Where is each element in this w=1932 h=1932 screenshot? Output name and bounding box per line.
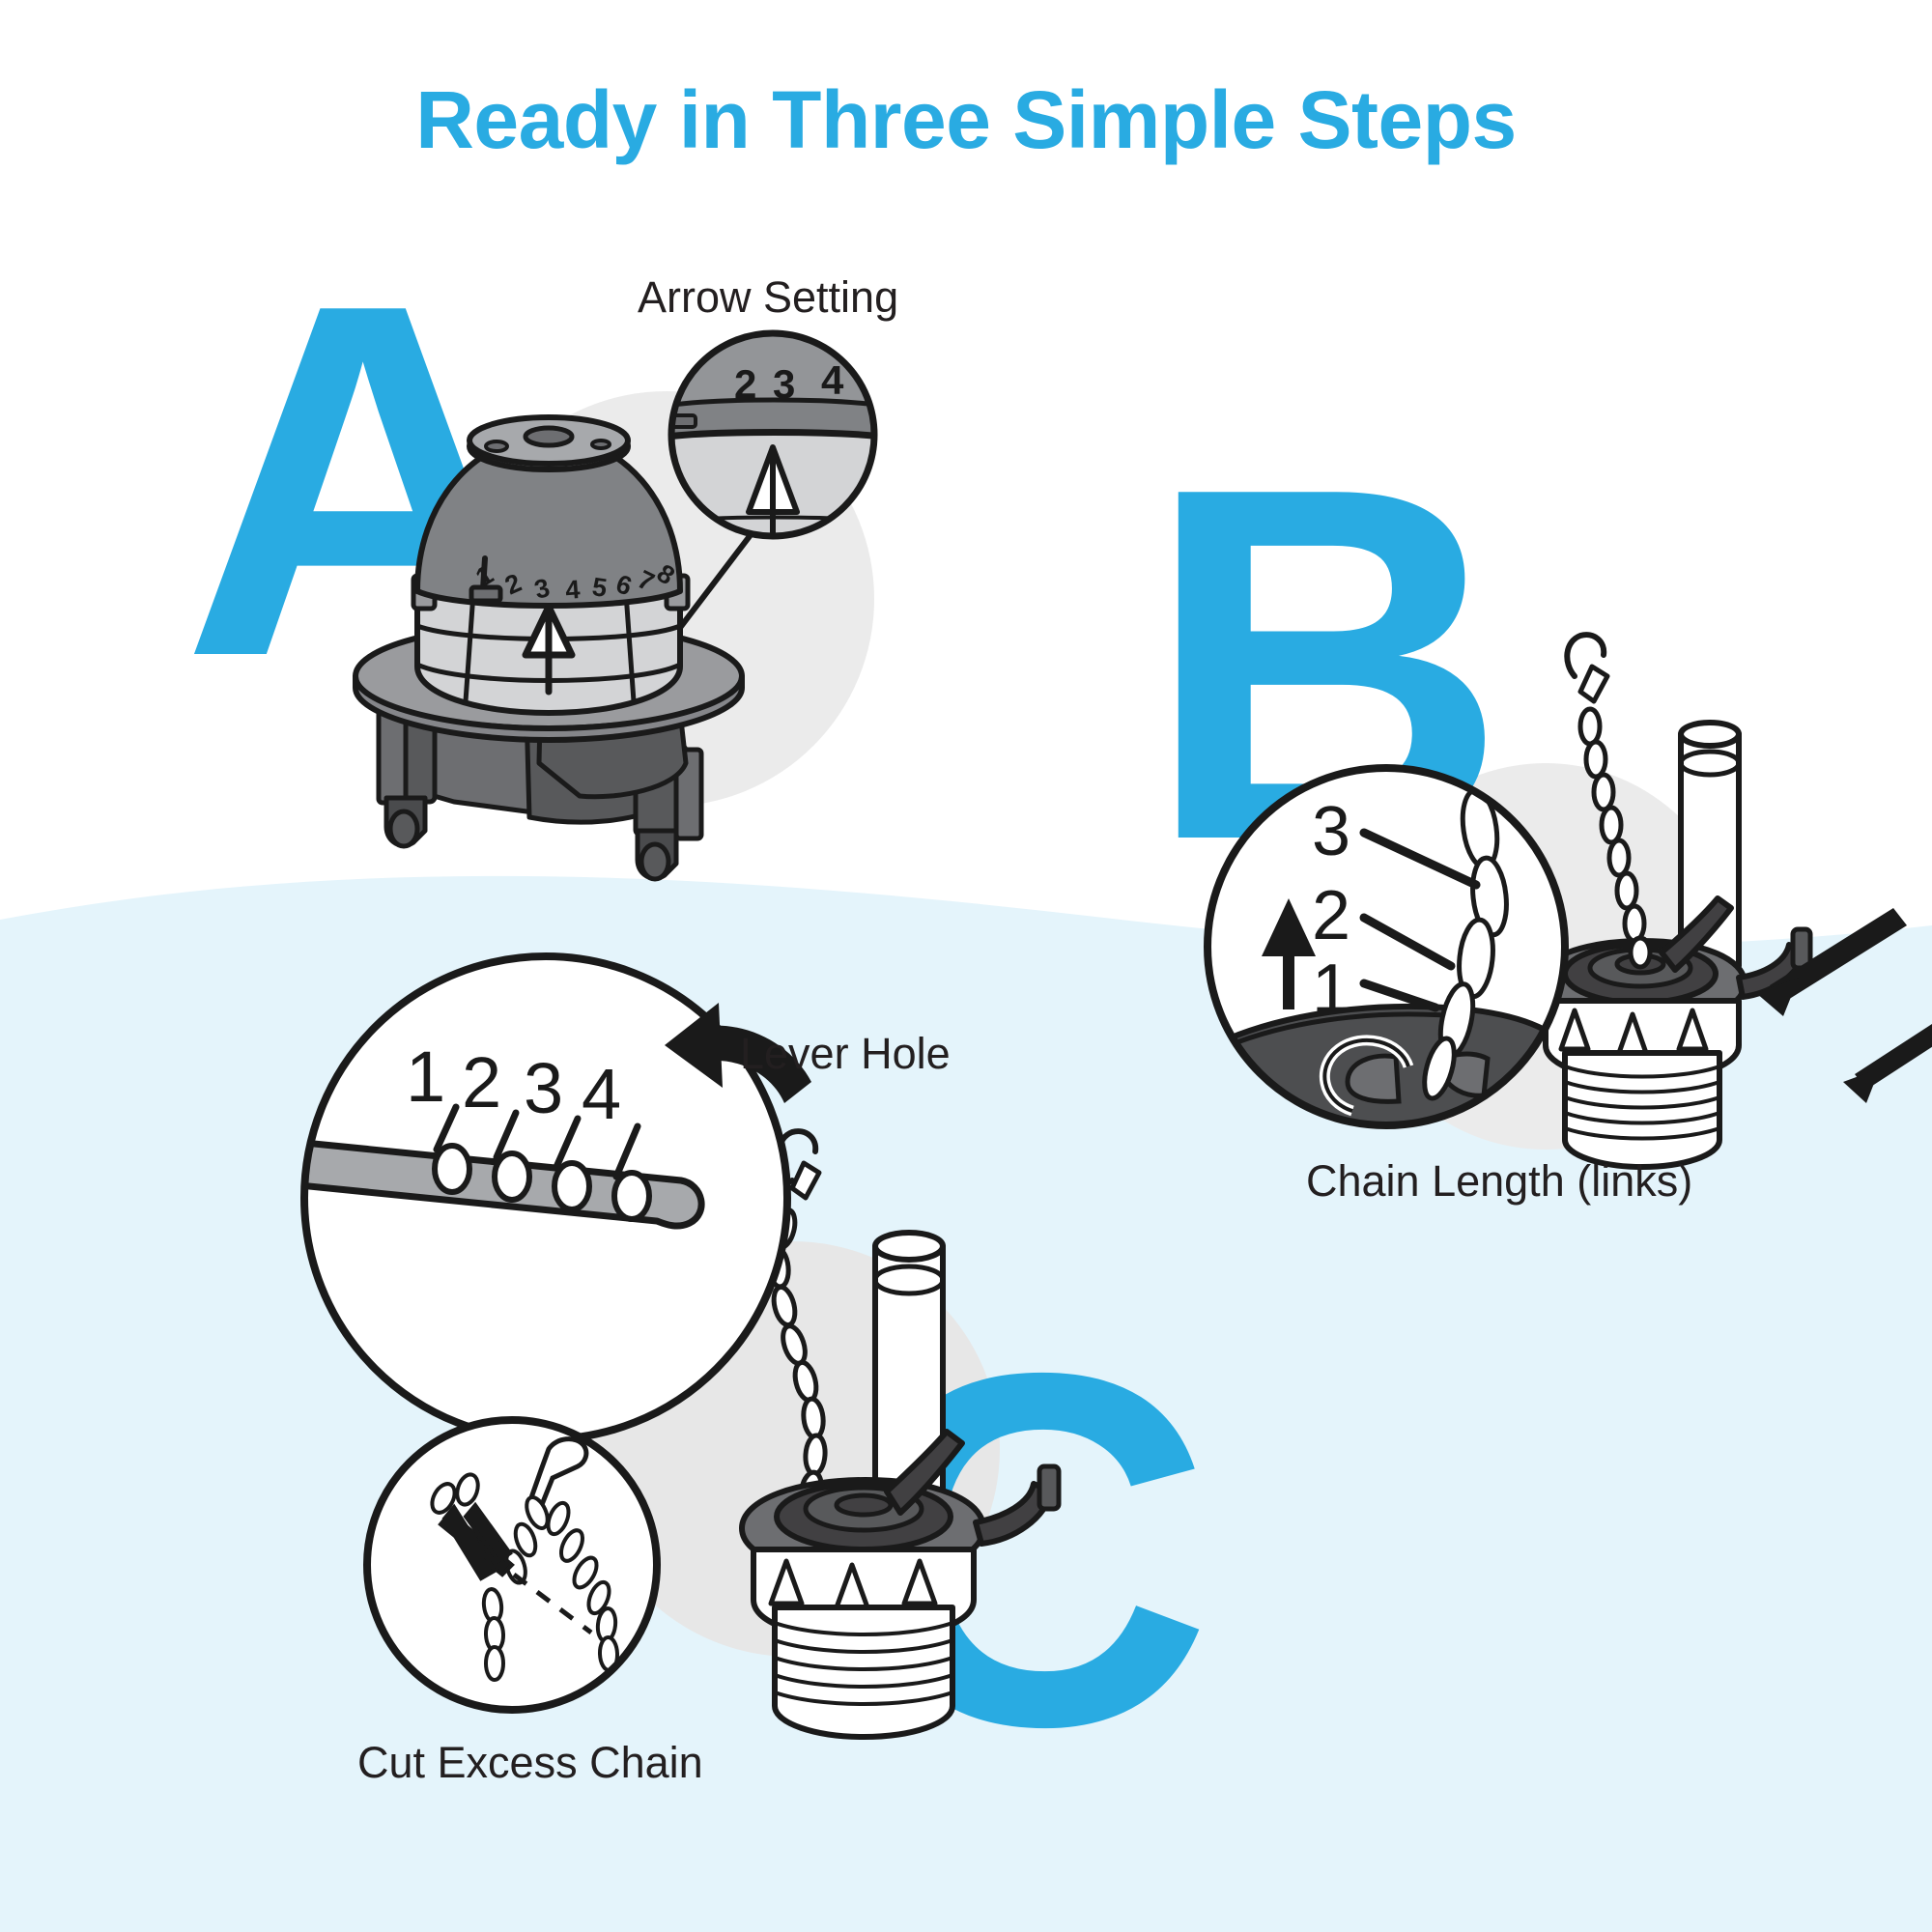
caption-cut-excess-chain: Cut Excess Chain bbox=[357, 1741, 703, 1784]
instruction-diagram: Ready in Three Simple Steps A B C bbox=[0, 0, 1932, 1932]
chain-cut-offcut bbox=[482, 1588, 503, 1680]
magnifier-cut-chain bbox=[0, 0, 1932, 1932]
